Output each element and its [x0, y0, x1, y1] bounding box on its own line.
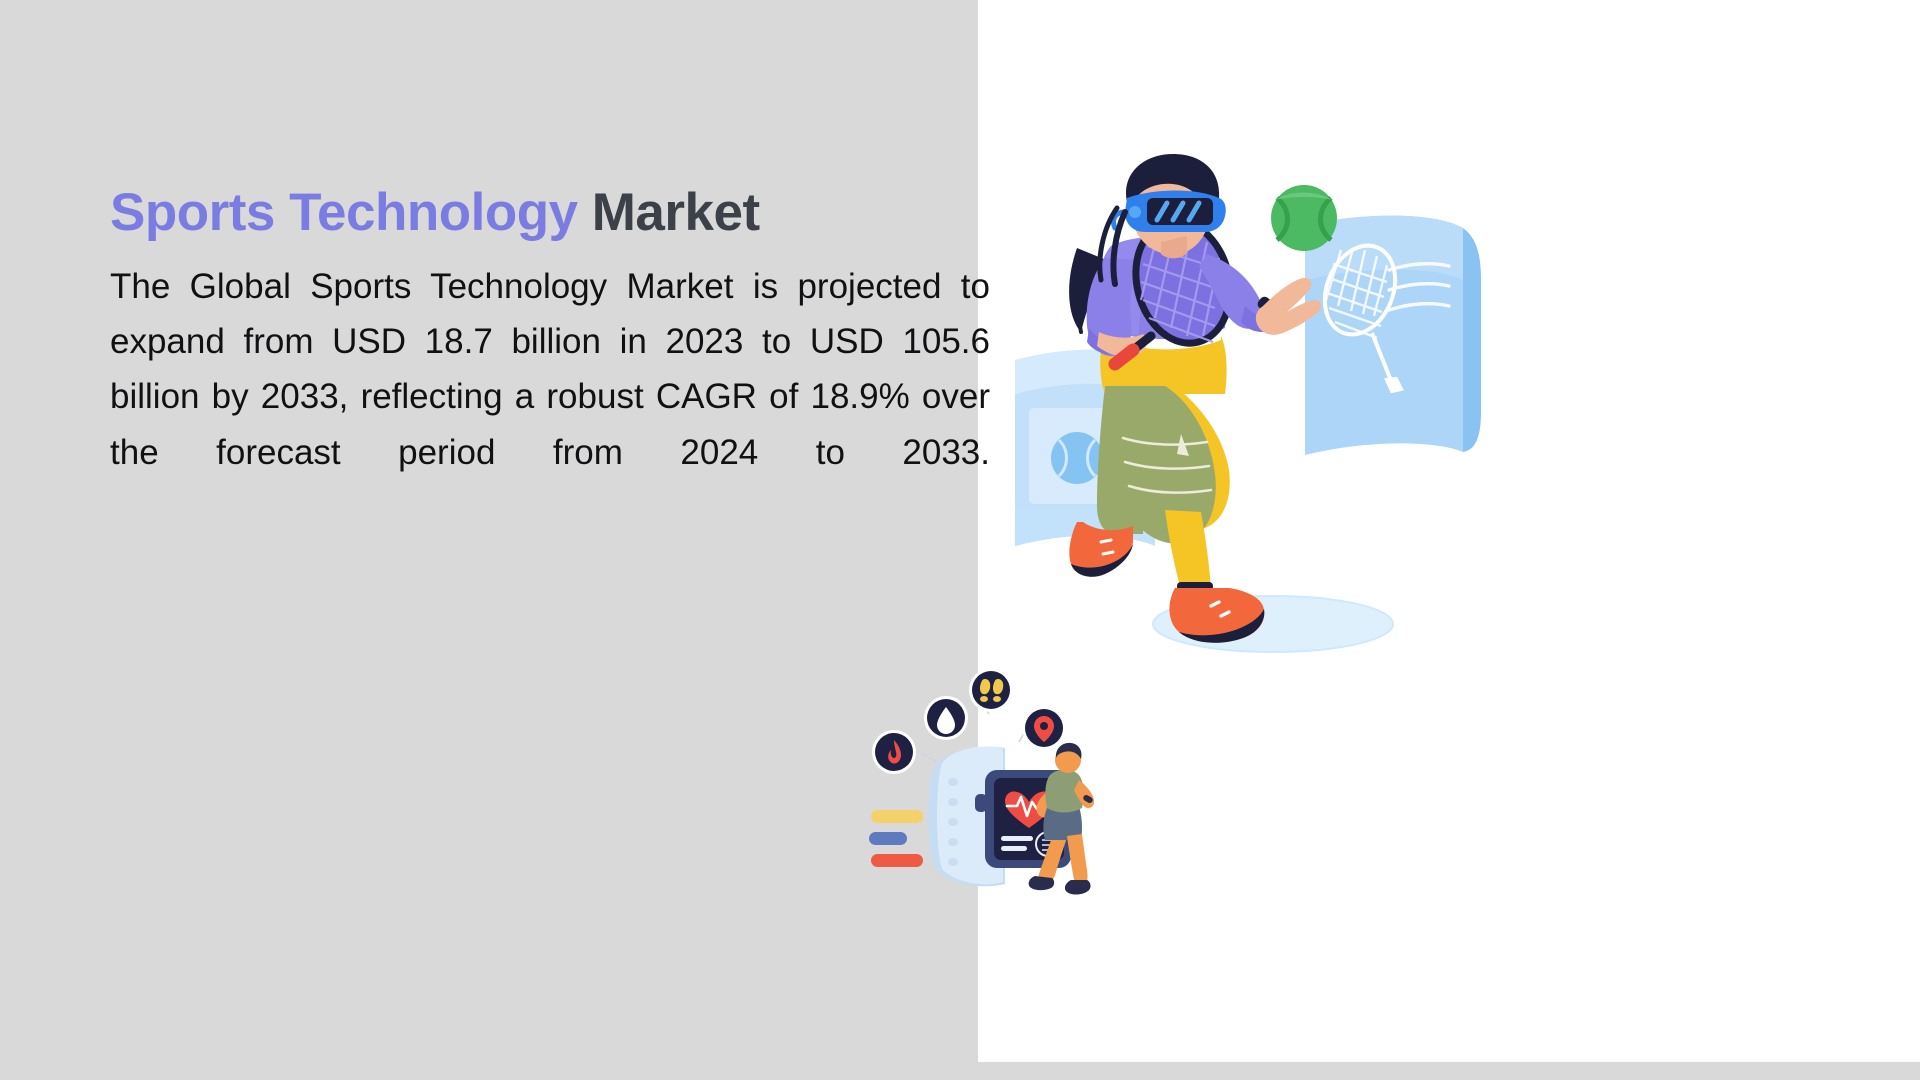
footprints-icon	[969, 670, 1013, 712]
runner-shoe-front	[1065, 880, 1091, 895]
market-summary-paragraph: The Global Sports Technology Market is p…	[110, 259, 990, 535]
shoe-front	[1169, 588, 1264, 643]
hologram-screen-right	[1305, 216, 1481, 455]
vr-tennis-player-illustration	[1015, 150, 1535, 690]
background-bottom-strip	[978, 1062, 1920, 1080]
page-title-accent: Sports Technology	[110, 183, 578, 242]
smartwatch-fitness-illustration	[855, 670, 1145, 910]
page-title: Sports Technology Market	[110, 185, 990, 241]
hologram-tennis-ball-icon	[1051, 432, 1103, 484]
stat-bars	[869, 810, 923, 867]
text-block: Sports Technology Market The Global Spor…	[110, 185, 990, 535]
goggles-indicator	[1129, 206, 1141, 218]
page-root: Sports Technology Market The Global Spor…	[0, 0, 1920, 1080]
shoe-back	[1069, 522, 1133, 577]
flame-icon	[872, 730, 916, 774]
stat-bar-blue	[869, 832, 907, 845]
water-drop-icon	[924, 696, 968, 740]
stat-bar-red	[871, 854, 923, 867]
runner-leg-front	[1067, 834, 1088, 887]
page-title-plain: Market	[578, 183, 760, 242]
tennis-ball	[1271, 185, 1337, 251]
location-pin-icon	[1022, 706, 1066, 750]
background-panel-left	[0, 0, 978, 1080]
stat-bar-yellow	[871, 810, 923, 823]
runner-shoe-back	[1029, 876, 1055, 890]
